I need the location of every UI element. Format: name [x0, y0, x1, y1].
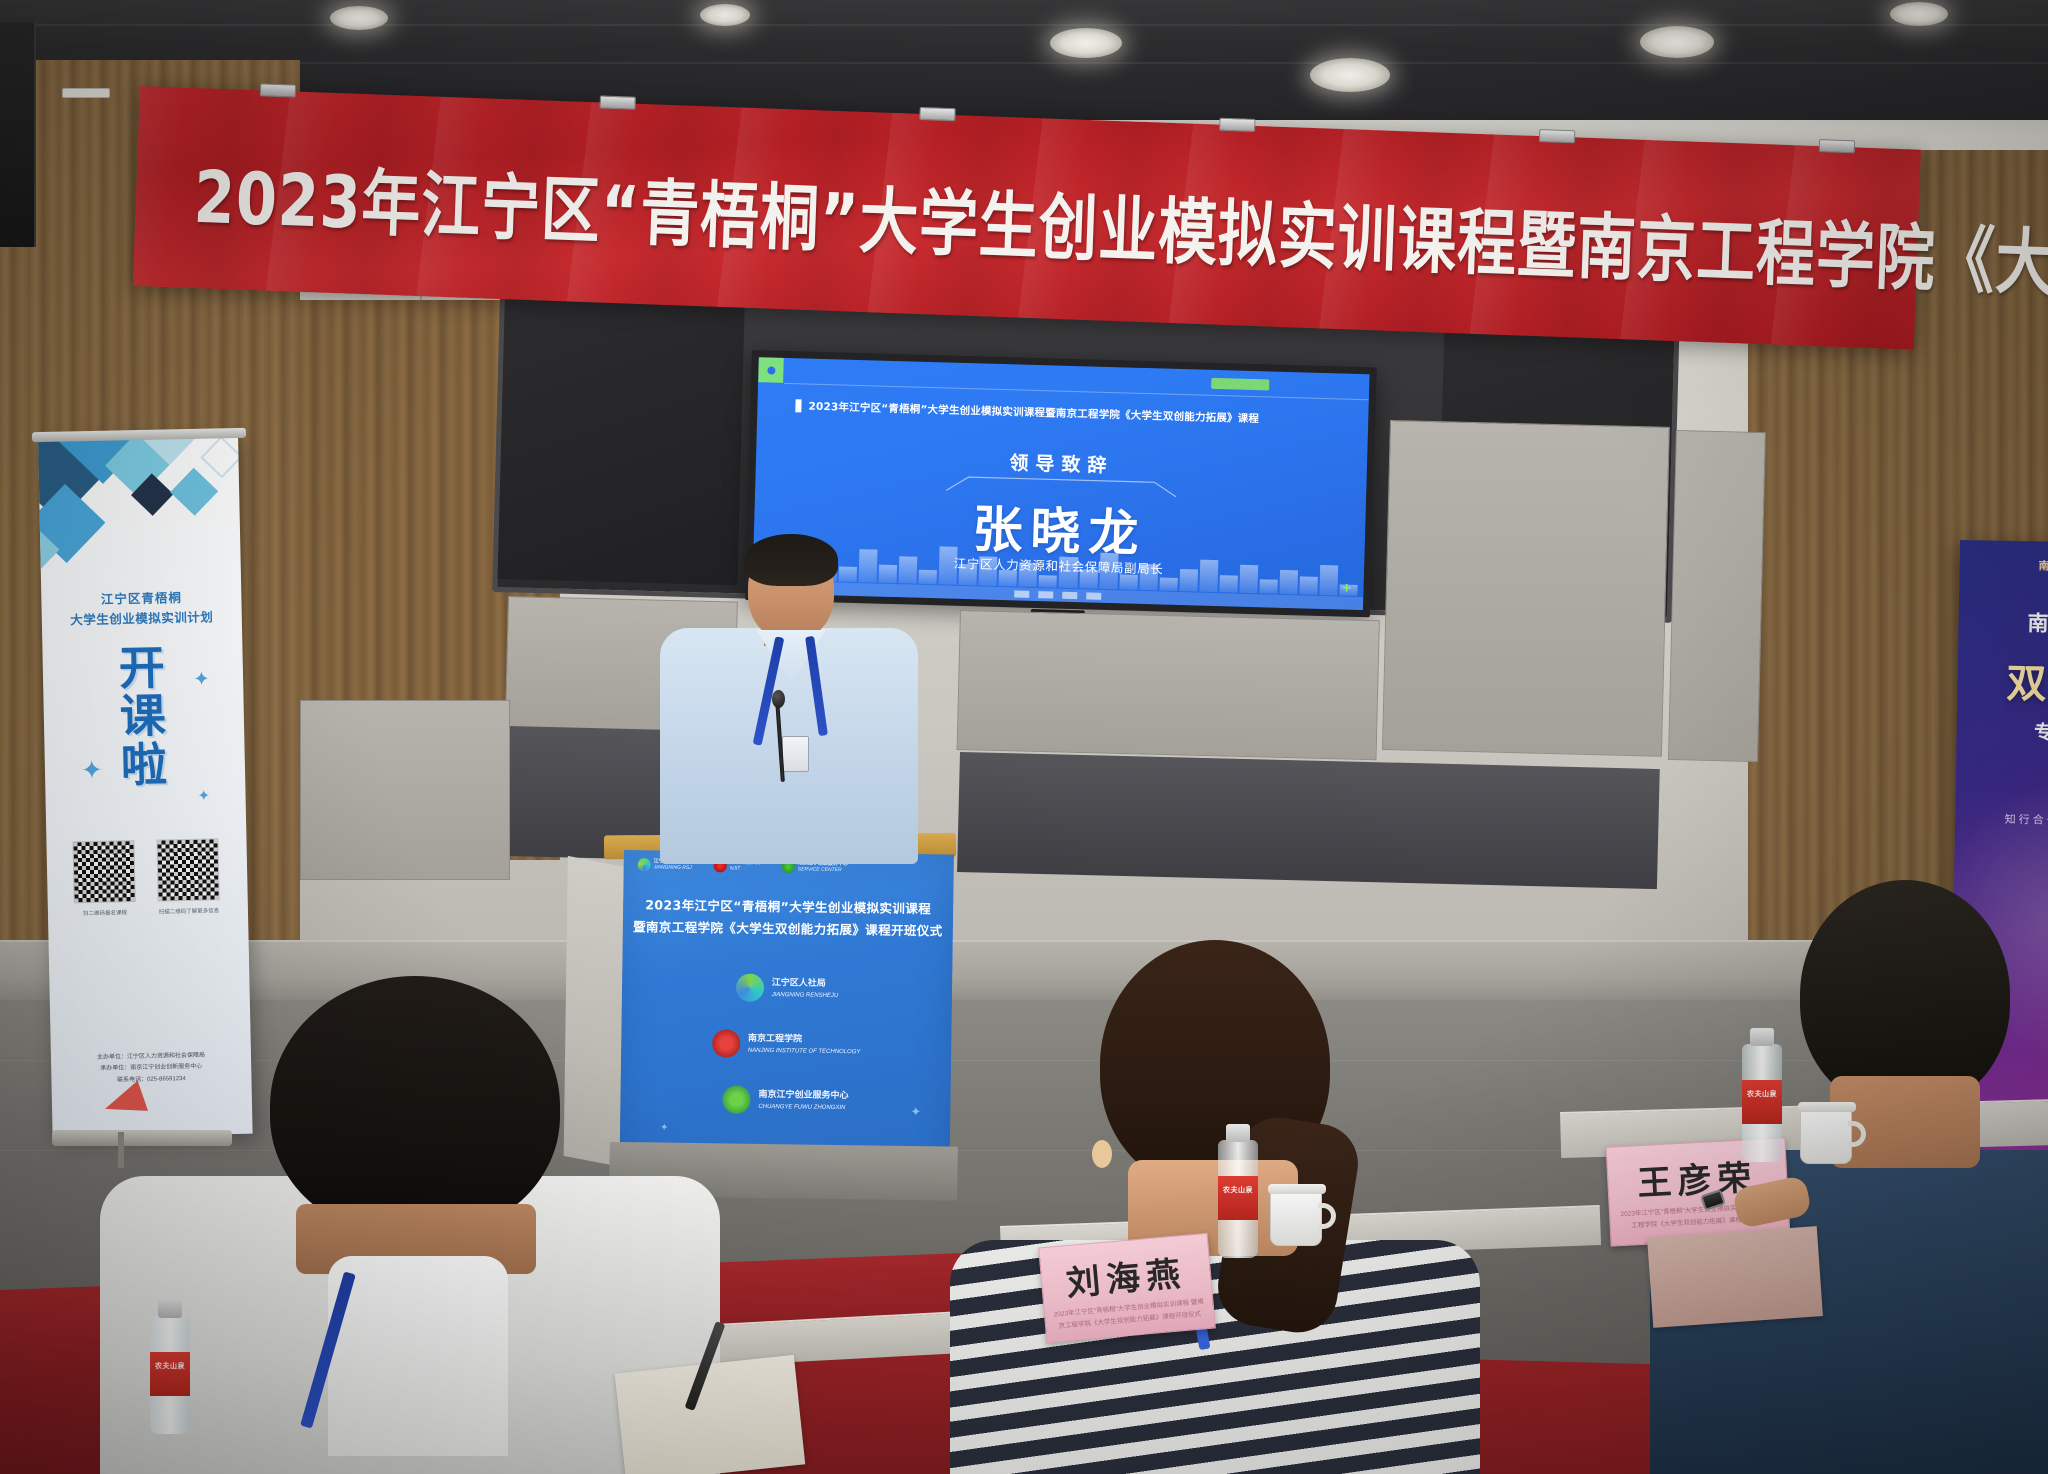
- sparkle-icon: ✦: [910, 1104, 921, 1120]
- brand-mark-icon: [722, 1085, 750, 1113]
- podium-brand-name: 南京工程学院: [748, 1032, 802, 1043]
- podium-brand: 南京江宁创业服务中心 CHUANGYE FUWU ZHONGXIN: [722, 1085, 848, 1115]
- banner-clip-icon: [599, 95, 635, 109]
- sparkle-icon: ✦: [81, 755, 103, 786]
- toolbar-icon[interactable]: [1086, 592, 1101, 599]
- wall-cabinet-right: [1382, 420, 1670, 757]
- speaker-person: [660, 540, 920, 870]
- screen-status-indicator-icon: [758, 357, 784, 383]
- banner-clip-icon: [919, 107, 955, 121]
- banner-title: 2023年江宁区“青梧桐”大学生创业模拟实训课程暨南京工程学院《大学生双创能力拓…: [192, 138, 1835, 302]
- water-bottle-left[interactable]: 农夫山泉: [150, 1316, 190, 1434]
- rollup-left-subtitle: 大学生创业模拟实训计划: [42, 606, 242, 629]
- qr-code-right[interactable]: [156, 838, 219, 901]
- screen-green-bar-icon: [1211, 378, 1269, 391]
- rollup-right-line3: 专题活: [1956, 716, 2048, 747]
- wall-cabinet-far-left: [300, 700, 510, 880]
- wall-cabinet-far-right: [1668, 430, 1766, 762]
- brand-mark-icon: [735, 974, 763, 1002]
- banner-clip-icon: [1539, 129, 1575, 143]
- ceiling-panel-line: [0, 62, 2048, 64]
- audience-center-body: [950, 1240, 1480, 1474]
- screen-plus-icon[interactable]: +: [1339, 582, 1353, 596]
- rollup-right-line2: 双创大: [1957, 650, 2048, 712]
- audience-left-collar: [328, 1256, 508, 1456]
- screen-divider: [784, 383, 1369, 400]
- toolbar-icon[interactable]: [1014, 590, 1029, 597]
- wall-device: [62, 88, 110, 98]
- podium-brand-name: 南京江宁创业服务中心: [758, 1089, 848, 1100]
- tea-cup-center[interactable]: [1270, 1190, 1322, 1246]
- podium-brand-sub: JIANGNING RENSHEJU: [772, 992, 839, 999]
- name-card-center: 刘海燕 2023年江宁区“青梧桐”大学生创业模拟实训课程 暨南京工程学院《大学生…: [1038, 1233, 1216, 1343]
- podium-brand: 江宁区人社局 JIANGNING RENSHEJU: [735, 974, 838, 1003]
- banner-clip-icon: [1219, 118, 1255, 132]
- qr-left-caption: 扫二维码报名课程: [70, 908, 140, 917]
- bottle-cap-icon: [1226, 1124, 1250, 1142]
- banner-clip-icon: [1819, 139, 1855, 153]
- rollup-right-line1: 南京工程: [1958, 606, 2048, 640]
- wall-panel-center-lower: [957, 752, 1660, 889]
- ceiling-panel-line: [0, 24, 2048, 26]
- podium-title-line2: 暨南京工程学院《大学生双创能力拓展》课程开班仪式: [623, 916, 953, 940]
- water-bottle-center[interactable]: 农夫山泉: [1218, 1140, 1258, 1258]
- ceiling-light: [700, 4, 750, 26]
- ceiling-light: [1640, 26, 1714, 58]
- ceiling-light: [1310, 58, 1390, 92]
- toolbar-icon[interactable]: [1038, 591, 1053, 598]
- conference-room-photo: 2023年江宁区“青梧桐”大学生创业模拟实训课程暨南京工程学院《大学生双创能力拓…: [0, 0, 2048, 1474]
- cup-lid-icon: [1798, 1102, 1856, 1112]
- audience-person-center: [1000, 940, 1430, 1474]
- notepad-left[interactable]: [615, 1355, 806, 1474]
- sparkle-icon: ✦: [197, 786, 210, 804]
- bottle-cap-icon: [1750, 1028, 1774, 1046]
- bottle-brand: 农夫山泉: [150, 1361, 190, 1371]
- podium-brand: 南京工程学院 NANJING INSTITUTE OF TECHNOLOGY: [712, 1029, 861, 1059]
- bottle-label: 农夫山泉: [1742, 1080, 1782, 1124]
- screen-header: 2023年江宁区“青梧桐”大学生创业模拟实训课程暨南京工程学院《大学生双创能力拓…: [795, 398, 1354, 429]
- rollup-headline-char: 开: [42, 642, 243, 694]
- bottle-label: 农夫山泉: [150, 1352, 190, 1396]
- speaker-id-badge: [782, 736, 809, 772]
- podium-title-line1: 2023年江宁区“青梧桐”大学生创业模拟实训课程: [623, 894, 953, 918]
- bottle-label: 农夫山泉: [1218, 1176, 1258, 1220]
- screen-header-title: 2023年江宁区“青梧桐”大学生创业模拟实训课程暨南京工程学院《大学生双创能力拓…: [808, 399, 1259, 427]
- rollup-headline-char: 课: [43, 690, 244, 742]
- audience-center-ear: [1092, 1140, 1112, 1168]
- ceiling-light: [330, 6, 388, 30]
- water-bottle-right[interactable]: 农夫山泉: [1742, 1044, 1782, 1162]
- bottle-brand: 农夫山泉: [1218, 1185, 1258, 1195]
- speaker-hair: [744, 534, 838, 586]
- bottle-cap-icon: [158, 1300, 182, 1318]
- cup-lid-icon: [1268, 1184, 1326, 1194]
- podium-brand-name: 江宁区人社局: [772, 977, 826, 988]
- toolbar-icon[interactable]: [1062, 592, 1077, 599]
- rollup-headline-char: 啦: [44, 738, 245, 790]
- document-right[interactable]: [1647, 1226, 1823, 1328]
- tea-cup-right[interactable]: [1800, 1108, 1852, 1164]
- podium-brand-sub: CHUANGYE FUWU ZHONGXIN: [758, 1104, 845, 1111]
- bottle-brand: 农夫山泉: [1742, 1089, 1782, 1099]
- banner-clip-icon: [260, 83, 296, 97]
- rollup-decoration: [38, 434, 253, 589]
- wall-cabinet-center: [957, 610, 1380, 760]
- logo-mark-icon: [638, 858, 651, 871]
- sparkle-icon: ✦: [193, 666, 210, 691]
- qr-right-caption: 扫描二维码了解更多信息: [154, 906, 224, 915]
- bullet-icon: [795, 399, 801, 412]
- rollup-right-logo: 南京工程学院: [1959, 556, 2048, 576]
- ceiling-light: [1050, 28, 1122, 58]
- rollup-left-headline: 开 课 啦: [42, 642, 245, 791]
- microphone-head-icon: [772, 690, 785, 708]
- ceiling-light: [1890, 2, 1948, 26]
- audience-left-head: [270, 976, 560, 1236]
- qr-code-left[interactable]: [72, 840, 135, 903]
- wall-speaker: [0, 22, 36, 247]
- podium-brand-sub: NANJING INSTITUTE OF TECHNOLOGY: [748, 1048, 861, 1056]
